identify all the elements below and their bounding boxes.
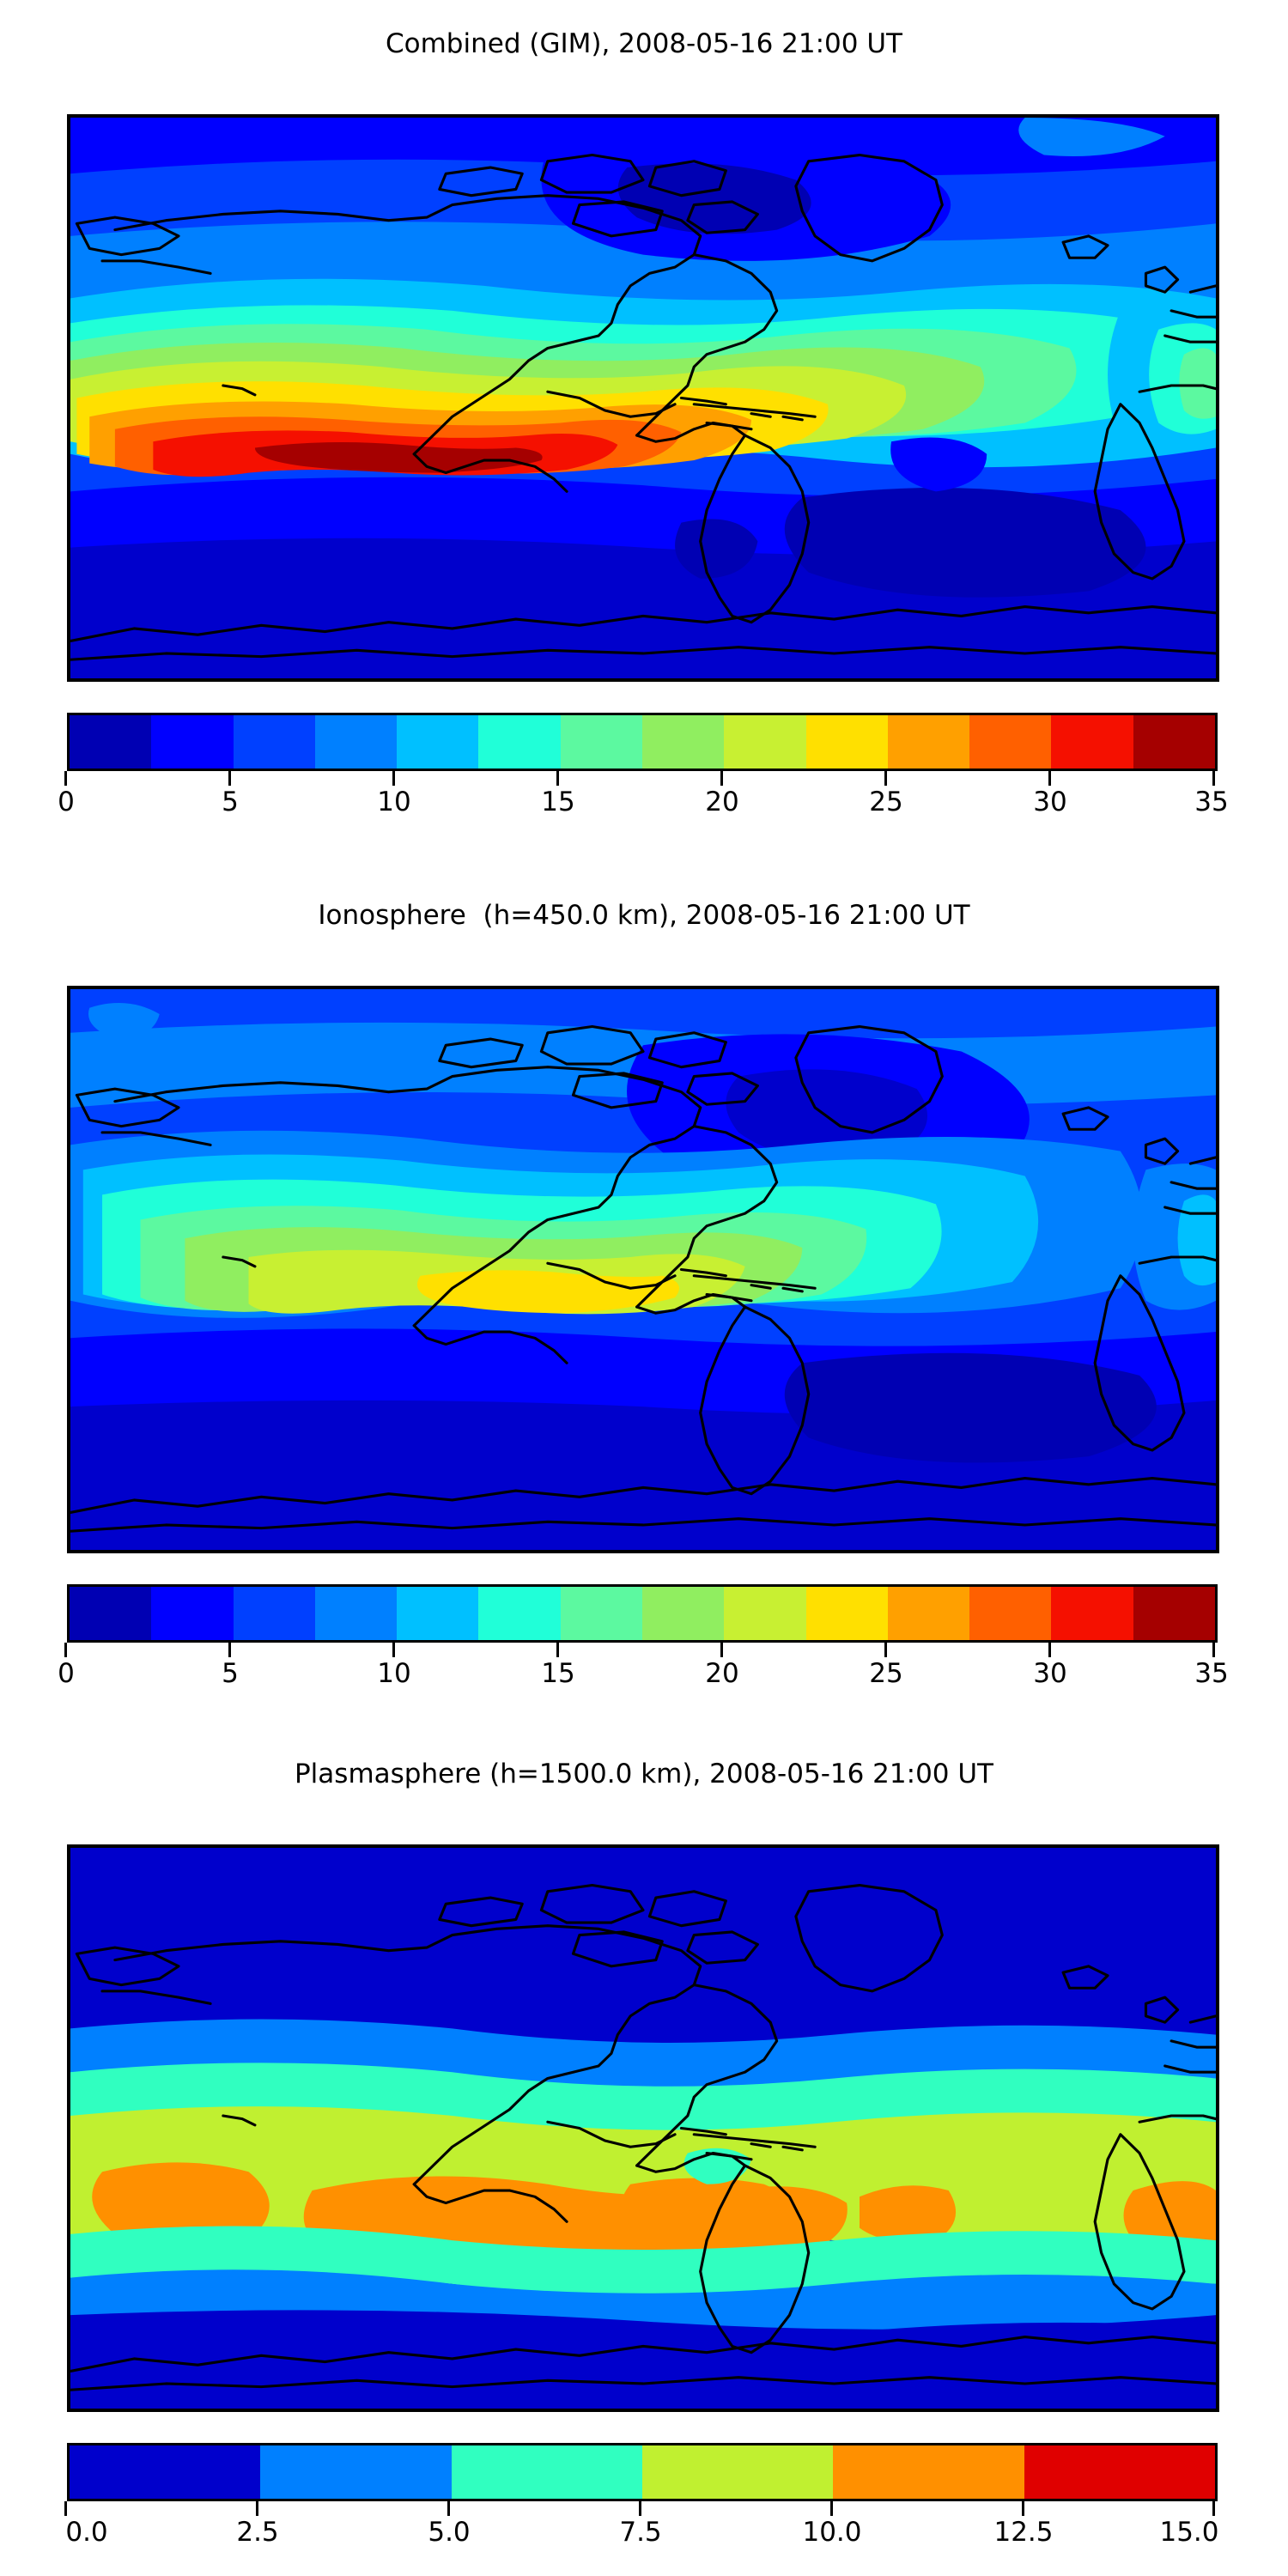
colorbar-tick-label: 20 — [705, 787, 738, 817]
colorbar-band — [234, 1587, 315, 1640]
colorbar-tick — [720, 1643, 723, 1657]
colorbar-band — [642, 1587, 724, 1640]
colorbar-band — [234, 715, 315, 769]
colorbar-ionosphere-labels: 0 5 10 15 20 25 30 35 — [64, 1658, 1215, 1692]
colorbar-band — [969, 1587, 1051, 1640]
panel-title-combined: Combined (GIM), 2008-05-16 21:00 UT — [0, 28, 1288, 59]
colorbar-tick-label: 30 — [1033, 1658, 1066, 1689]
colorbar-band — [397, 715, 478, 769]
map-plasmasphere-svg — [70, 1848, 1216, 2409]
colorbar-band — [642, 715, 724, 769]
colorbar-tick — [1212, 2501, 1215, 2516]
colorbar-band — [397, 1587, 478, 1640]
colorbar-tick-label: 35 — [1194, 787, 1228, 817]
panel-combined-gim: Combined (GIM), 2008-05-16 21:00 UT — [0, 0, 1288, 859]
colorbar-tick — [1048, 1643, 1051, 1657]
colorbar-band — [1051, 715, 1133, 769]
colorbar-tick-label: 30 — [1033, 787, 1066, 817]
map-combined — [67, 114, 1219, 682]
colorbar-combined-ticks — [64, 771, 1215, 787]
colorbar-combined-labels: 0 5 10 15 20 25 30 35 — [64, 787, 1215, 821]
colorbar-band — [70, 715, 151, 769]
colorbar-tick-label: 5 — [222, 1658, 239, 1689]
colorbar-tick-label: 20 — [705, 1658, 738, 1689]
colorbar-tick — [1212, 771, 1215, 786]
colorbar-combined: 0 5 10 15 20 25 30 35 — [67, 713, 1212, 821]
colorbar-tick-label: 25 — [869, 1658, 902, 1689]
colorbar-tick — [256, 2501, 258, 2516]
colorbar-tick — [392, 771, 395, 786]
colorbar-band — [70, 2445, 260, 2499]
colorbar-band — [1133, 1587, 1215, 1640]
colorbar-band — [642, 2445, 833, 2499]
colorbar-tick-label: 15 — [541, 1658, 574, 1689]
colorbar-band — [260, 2445, 451, 2499]
colorbar-plasmasphere-labels: 0.0 2.5 5.0 7.5 10.0 12.5 15.0 — [64, 2517, 1215, 2551]
colorbar-tick — [392, 1643, 395, 1657]
colorbar-ionosphere: 0 5 10 15 20 25 30 35 — [67, 1584, 1212, 1692]
colorbar-tick-label: 10.0 — [802, 2517, 861, 2548]
colorbar-tick-label: 25 — [869, 787, 902, 817]
colorbar-band — [561, 1587, 642, 1640]
colorbar-band — [1051, 1587, 1133, 1640]
colorbar-tick-label: 0.0 — [65, 2517, 107, 2548]
colorbar-tick — [447, 2501, 450, 2516]
colorbar-tick-label: 5.0 — [428, 2517, 470, 2548]
map-ionosphere — [67, 986, 1219, 1553]
colorbar-tick — [1048, 771, 1051, 786]
colorbar-combined-bands — [67, 713, 1218, 771]
colorbar-plasmasphere: 0.0 2.5 5.0 7.5 10.0 12.5 15.0 — [67, 2443, 1212, 2551]
colorbar-tick — [720, 771, 723, 786]
figure-canvas: Combined (GIM), 2008-05-16 21:00 UT — [0, 0, 1288, 2576]
colorbar-tick — [228, 1643, 231, 1657]
panel-title-ionosphere: Ionosphere (h=450.0 km), 2008-05-16 21:0… — [0, 900, 1288, 931]
panel-ionosphere: Ionosphere (h=450.0 km), 2008-05-16 21:0… — [0, 859, 1288, 1735]
colorbar-tick — [556, 1643, 559, 1657]
colorbar-tick-label: 35 — [1194, 1658, 1228, 1689]
colorbar-band — [806, 715, 888, 769]
map-plasmasphere — [67, 1844, 1219, 2412]
colorbar-tick-label: 10 — [377, 1658, 410, 1689]
colorbar-tick-label: 2.5 — [236, 2517, 278, 2548]
colorbar-band — [478, 1587, 560, 1640]
colorbar-band — [561, 715, 642, 769]
colorbar-band — [724, 715, 805, 769]
colorbar-plasmasphere-bands — [67, 2443, 1218, 2501]
colorbar-tick-label: 5 — [222, 787, 239, 817]
map-combined-svg — [70, 118, 1216, 678]
map-ionosphere-svg — [70, 989, 1216, 1550]
colorbar-plasmasphere-ticks — [64, 2501, 1215, 2517]
panel-title-plasmasphere: Plasmasphere (h=1500.0 km), 2008-05-16 2… — [0, 1759, 1288, 1789]
panel-plasmasphere: Plasmasphere (h=1500.0 km), 2008-05-16 2… — [0, 1735, 1288, 2576]
colorbar-tick-label: 0 — [58, 787, 75, 817]
colorbar-tick-label: 15.0 — [1159, 2517, 1218, 2548]
colorbar-band — [888, 715, 969, 769]
colorbar-tick — [1022, 2501, 1024, 2516]
colorbar-band — [888, 1587, 969, 1640]
colorbar-tick — [884, 1643, 887, 1657]
colorbar-tick — [639, 2501, 641, 2516]
colorbar-band — [969, 715, 1051, 769]
colorbar-tick-label: 7.5 — [619, 2517, 661, 2548]
colorbar-band — [1024, 2445, 1215, 2499]
colorbar-tick — [64, 2501, 67, 2516]
colorbar-band — [151, 1587, 233, 1640]
colorbar-band — [724, 1587, 805, 1640]
colorbar-band — [806, 1587, 888, 1640]
colorbar-tick — [884, 771, 887, 786]
colorbar-ionosphere-bands — [67, 1584, 1218, 1643]
colorbar-band — [1133, 715, 1215, 769]
colorbar-tick — [1212, 1643, 1215, 1657]
colorbar-band — [70, 1587, 151, 1640]
colorbar-tick-label: 15 — [541, 787, 574, 817]
colorbar-tick — [64, 771, 67, 786]
colorbar-band — [478, 715, 560, 769]
colorbar-band — [833, 2445, 1024, 2499]
colorbar-band — [315, 1587, 397, 1640]
colorbar-band — [452, 2445, 642, 2499]
colorbar-tick — [556, 771, 559, 786]
colorbar-tick-label: 12.5 — [993, 2517, 1053, 2548]
colorbar-tick — [830, 2501, 833, 2516]
colorbar-tick-label: 0 — [58, 1658, 75, 1689]
colorbar-tick — [64, 1643, 67, 1657]
colorbar-tick-label: 10 — [377, 787, 410, 817]
colorbar-tick — [228, 771, 231, 786]
colorbar-band — [315, 715, 397, 769]
colorbar-band — [151, 715, 233, 769]
colorbar-ionosphere-ticks — [64, 1643, 1215, 1658]
